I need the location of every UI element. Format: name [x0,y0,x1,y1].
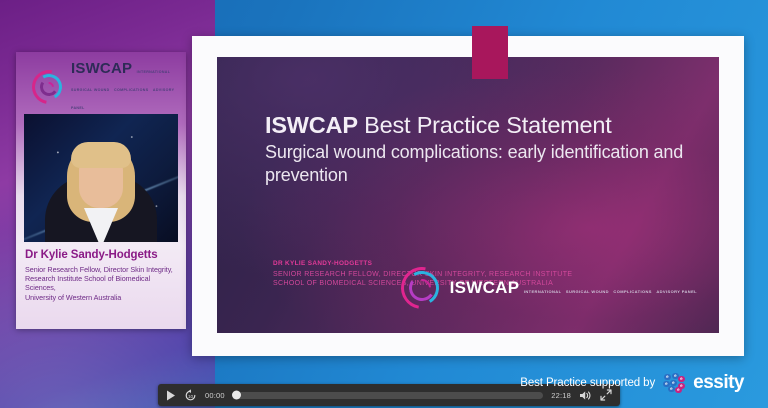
slide-presenter-name: DR KYLIE SANDY-HODGETTS [273,260,372,267]
logo-tagline-line: COMPLICATIONS [114,88,148,92]
screen-background: ISWCAP INTERNATIONAL SURGICAL WOUND COMP… [0,0,768,408]
sponsor-text: Best Practice supported by [520,377,655,389]
logo-tagline-line: INTERNATIONAL [137,70,171,74]
slide-subtitle: Surgical wound complications: early iden… [265,141,693,186]
speaker-video-portrait [24,114,178,242]
magenta-accent-block [472,26,508,79]
play-icon[interactable] [166,390,176,401]
progress-thumb[interactable] [232,391,241,400]
logo-tagline-line: SURGICAL WOUND [71,88,110,92]
rewind-10-icon[interactable]: 10 [184,389,197,402]
speaker-fringe [71,142,131,168]
slide-logo-text: ISWCAP INTERNATIONAL SURGICAL WOUND COMP… [450,279,697,298]
slide-logo: ISWCAP INTERNATIONAL SURGICAL WOUND COMP… [401,267,697,309]
slide-title: ISWCAP Best Practice Statement [265,111,689,139]
logo-tagline-line: COMPLICATIONS [613,289,651,294]
essity-logo-icon: eeee eeee [663,373,685,393]
iswcap-ring-icon [401,267,443,309]
speaker-details: Dr Kylie Sandy-Hodgetts Senior Research … [16,242,186,302]
svg-text:10: 10 [188,393,194,398]
speaker-role-line: Senior Research Fellow, Director Skin In… [25,265,177,274]
speaker-role-line: Research Institute School of Biomedical … [25,274,177,292]
speaker-role-line: University of Western Australia [25,293,177,302]
speaker-card: ISWCAP INTERNATIONAL SURGICAL WOUND COMP… [16,52,186,329]
iswcap-ring-icon [32,70,66,104]
logo-tagline-line: INTERNATIONAL [524,289,562,294]
speaker-card-logo: ISWCAP INTERNATIONAL SURGICAL WOUND COMP… [16,52,186,112]
essity-wordmark: essity [693,372,744,394]
speaker-card-logo-text: ISWCAP INTERNATIONAL SURGICAL WOUND COMP… [71,60,186,114]
current-time: 00:00 [205,391,225,400]
slide-title-strong: ISWCAP [265,112,358,138]
slide-title-rest: Best Practice Statement [358,112,612,138]
presentation-slide: ISWCAP Best Practice Statement Surgical … [217,57,719,333]
logo-tagline-line: SURGICAL WOUND [566,289,609,294]
logo-tagline-line: ADVISORY PANEL [656,289,697,294]
logo-wordmark: ISWCAP [71,60,132,77]
sponsor-strip: Best Practice supported by eeee eeee ess… [520,372,744,394]
logo-wordmark: ISWCAP [450,278,520,297]
speaker-name: Dr Kylie Sandy-Hodgetts [25,249,177,262]
progress-slider[interactable] [233,392,543,399]
